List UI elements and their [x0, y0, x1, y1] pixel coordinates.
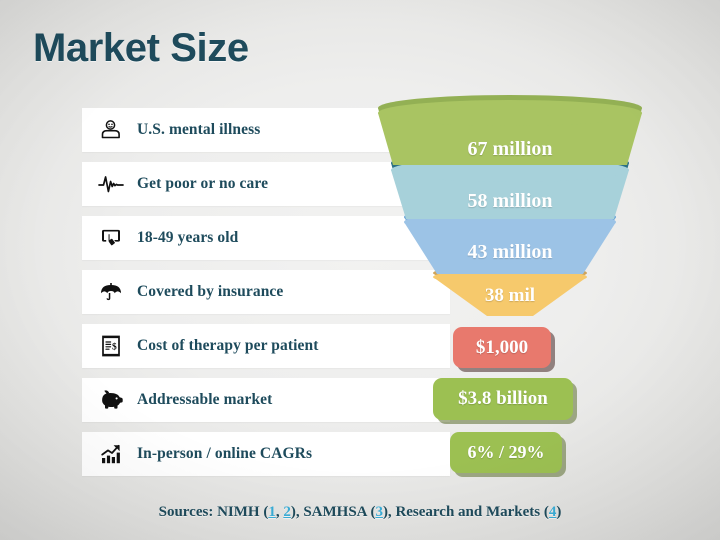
source-link-2[interactable]: 2 [283, 504, 291, 520]
callout-value: $3.8 billion [458, 388, 548, 410]
sources-nimh-label: NIMH ( [217, 504, 268, 520]
umbrella-icon [96, 277, 126, 307]
page-title: Market Size [33, 26, 249, 71]
funnel-value-3: 43 million [410, 241, 610, 264]
list-item-row-4[interactable]: Covered by insurance [82, 270, 450, 314]
list-item-row-3[interactable]: 18-49 years old [82, 216, 450, 260]
row-label: Get poor or no care [137, 175, 268, 193]
funnel-value-4: 38 mil [410, 285, 610, 307]
row-label: In-person / online CAGRs [137, 445, 312, 463]
row-label: Addressable market [137, 391, 272, 409]
sources-rm-label: Research and Markets ( [395, 504, 548, 520]
callout-addressable-market[interactable]: $3.8 billion [433, 378, 573, 420]
list-item-row-2[interactable]: Get poor or no care [82, 162, 450, 206]
row-label: 18-49 years old [137, 229, 238, 247]
list-item-row-1[interactable]: U.S. mental illness [82, 108, 450, 152]
list-item-row-5[interactable]: $ Cost of therapy per patient [82, 324, 450, 368]
svg-text:$: $ [112, 341, 117, 352]
funnel-value-2: 58 million [410, 190, 610, 213]
source-link-3[interactable]: 3 [375, 504, 383, 520]
click-cursor-icon [96, 223, 126, 253]
person-icon [96, 115, 126, 145]
sources-suffix: ) [556, 504, 561, 520]
row-label: Cost of therapy per patient [137, 337, 319, 355]
sources-footer: Sources: NIMH (1, 2), SAMHSA (3), Resear… [0, 504, 720, 521]
heartbeat-icon [96, 169, 126, 199]
sources-prefix: Sources: [159, 504, 217, 520]
growth-chart-icon [96, 439, 126, 469]
callout-cagrs[interactable]: 6% / 29% [450, 432, 562, 473]
list-item-row-7[interactable]: In-person / online CAGRs [82, 432, 450, 476]
piggy-bank-icon [96, 385, 126, 415]
callout-value: 6% / 29% [467, 442, 544, 463]
source-link-1[interactable]: 1 [268, 504, 276, 520]
row-label: Covered by insurance [137, 283, 283, 301]
sources-mid-2: ), [383, 504, 396, 520]
sources-mid-1: ), [291, 504, 304, 520]
row-label: U.S. mental illness [137, 121, 260, 139]
sources-samhsa-label: SAMHSA ( [303, 504, 375, 520]
funnel-value-1: 67 million [410, 138, 610, 161]
callout-value: $1,000 [476, 337, 528, 359]
invoice-icon: $ [96, 331, 126, 361]
callout-cost-of-therapy[interactable]: $1,000 [453, 327, 551, 368]
slide-canvas: Market Size U.S. mental illness Get poor… [0, 0, 720, 540]
list-item-row-6[interactable]: Addressable market [82, 378, 450, 422]
